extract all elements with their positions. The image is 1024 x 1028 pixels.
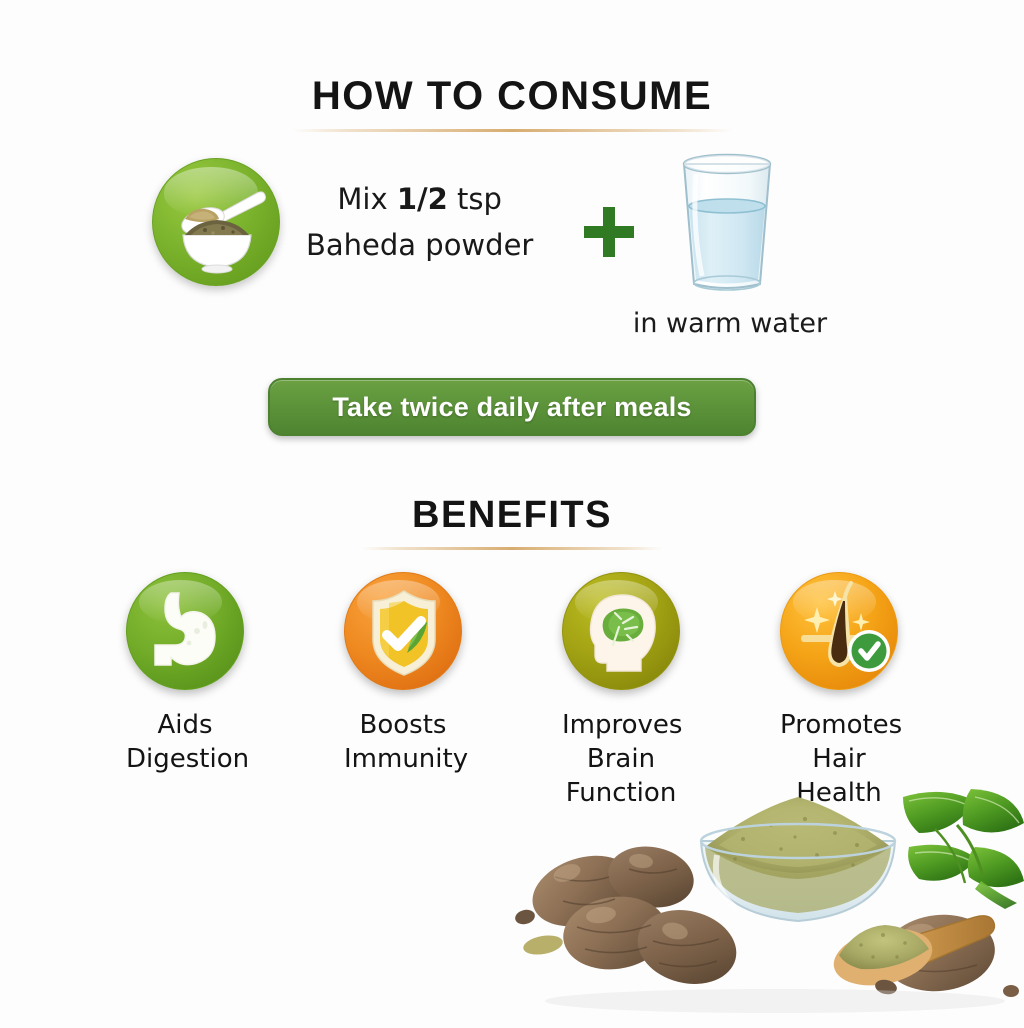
glass-of-water-icon bbox=[672, 150, 782, 298]
benefit-item-digestion: Aids Digestion bbox=[126, 572, 244, 810]
instruction-prefix: Mix bbox=[337, 182, 396, 216]
benefit-label: Aids Digestion bbox=[126, 708, 244, 776]
leaves bbox=[903, 789, 1024, 909]
instruction-line-2: Baheda powder bbox=[306, 222, 533, 268]
page-title: HOW TO CONSUME bbox=[0, 74, 1024, 119]
instruction-line-1: Mix 1/2 tsp bbox=[306, 176, 533, 222]
benefits-grid: Aids Digestion Boosts Immunity bbox=[0, 572, 1024, 810]
shield-check-icon bbox=[344, 572, 462, 690]
benefit-item-brain: Improves Brain Function bbox=[562, 572, 680, 810]
instruction-amount: 1/2 bbox=[397, 182, 448, 216]
benefits-title: BENEFITS bbox=[0, 494, 1024, 537]
warm-water-label: in warm water bbox=[560, 308, 900, 339]
benefit-item-immunity: Boosts Immunity bbox=[344, 572, 462, 810]
bowl-of-powder-icon bbox=[152, 158, 280, 286]
consume-instruction-text: Mix 1/2 tsp Baheda powder bbox=[306, 176, 533, 268]
instruction-unit: tsp bbox=[448, 182, 502, 216]
how-to-consume-section: HOW TO CONSUME bbox=[0, 74, 1024, 132]
stomach-icon bbox=[126, 572, 244, 690]
take-twice-daily-badge[interactable]: Take twice daily after meals bbox=[268, 378, 756, 436]
benefit-item-hair: Promotes Hair Health bbox=[780, 572, 898, 810]
pill-label: Take twice daily after meals bbox=[332, 392, 691, 423]
hair-follicle-icon bbox=[780, 572, 898, 690]
benefits-section: BENEFITS bbox=[0, 494, 1024, 550]
consume-instruction-row: Mix 1/2 tsp Baheda powder bbox=[0, 158, 1024, 318]
benefit-label: Boosts Immunity bbox=[344, 708, 462, 776]
product-photo bbox=[505, 785, 1024, 1024]
benefits-divider bbox=[362, 547, 662, 550]
head-brain-icon bbox=[562, 572, 680, 690]
title-divider bbox=[292, 129, 732, 132]
glass-bowl-of-powder bbox=[701, 797, 895, 921]
plus-icon bbox=[581, 204, 637, 260]
